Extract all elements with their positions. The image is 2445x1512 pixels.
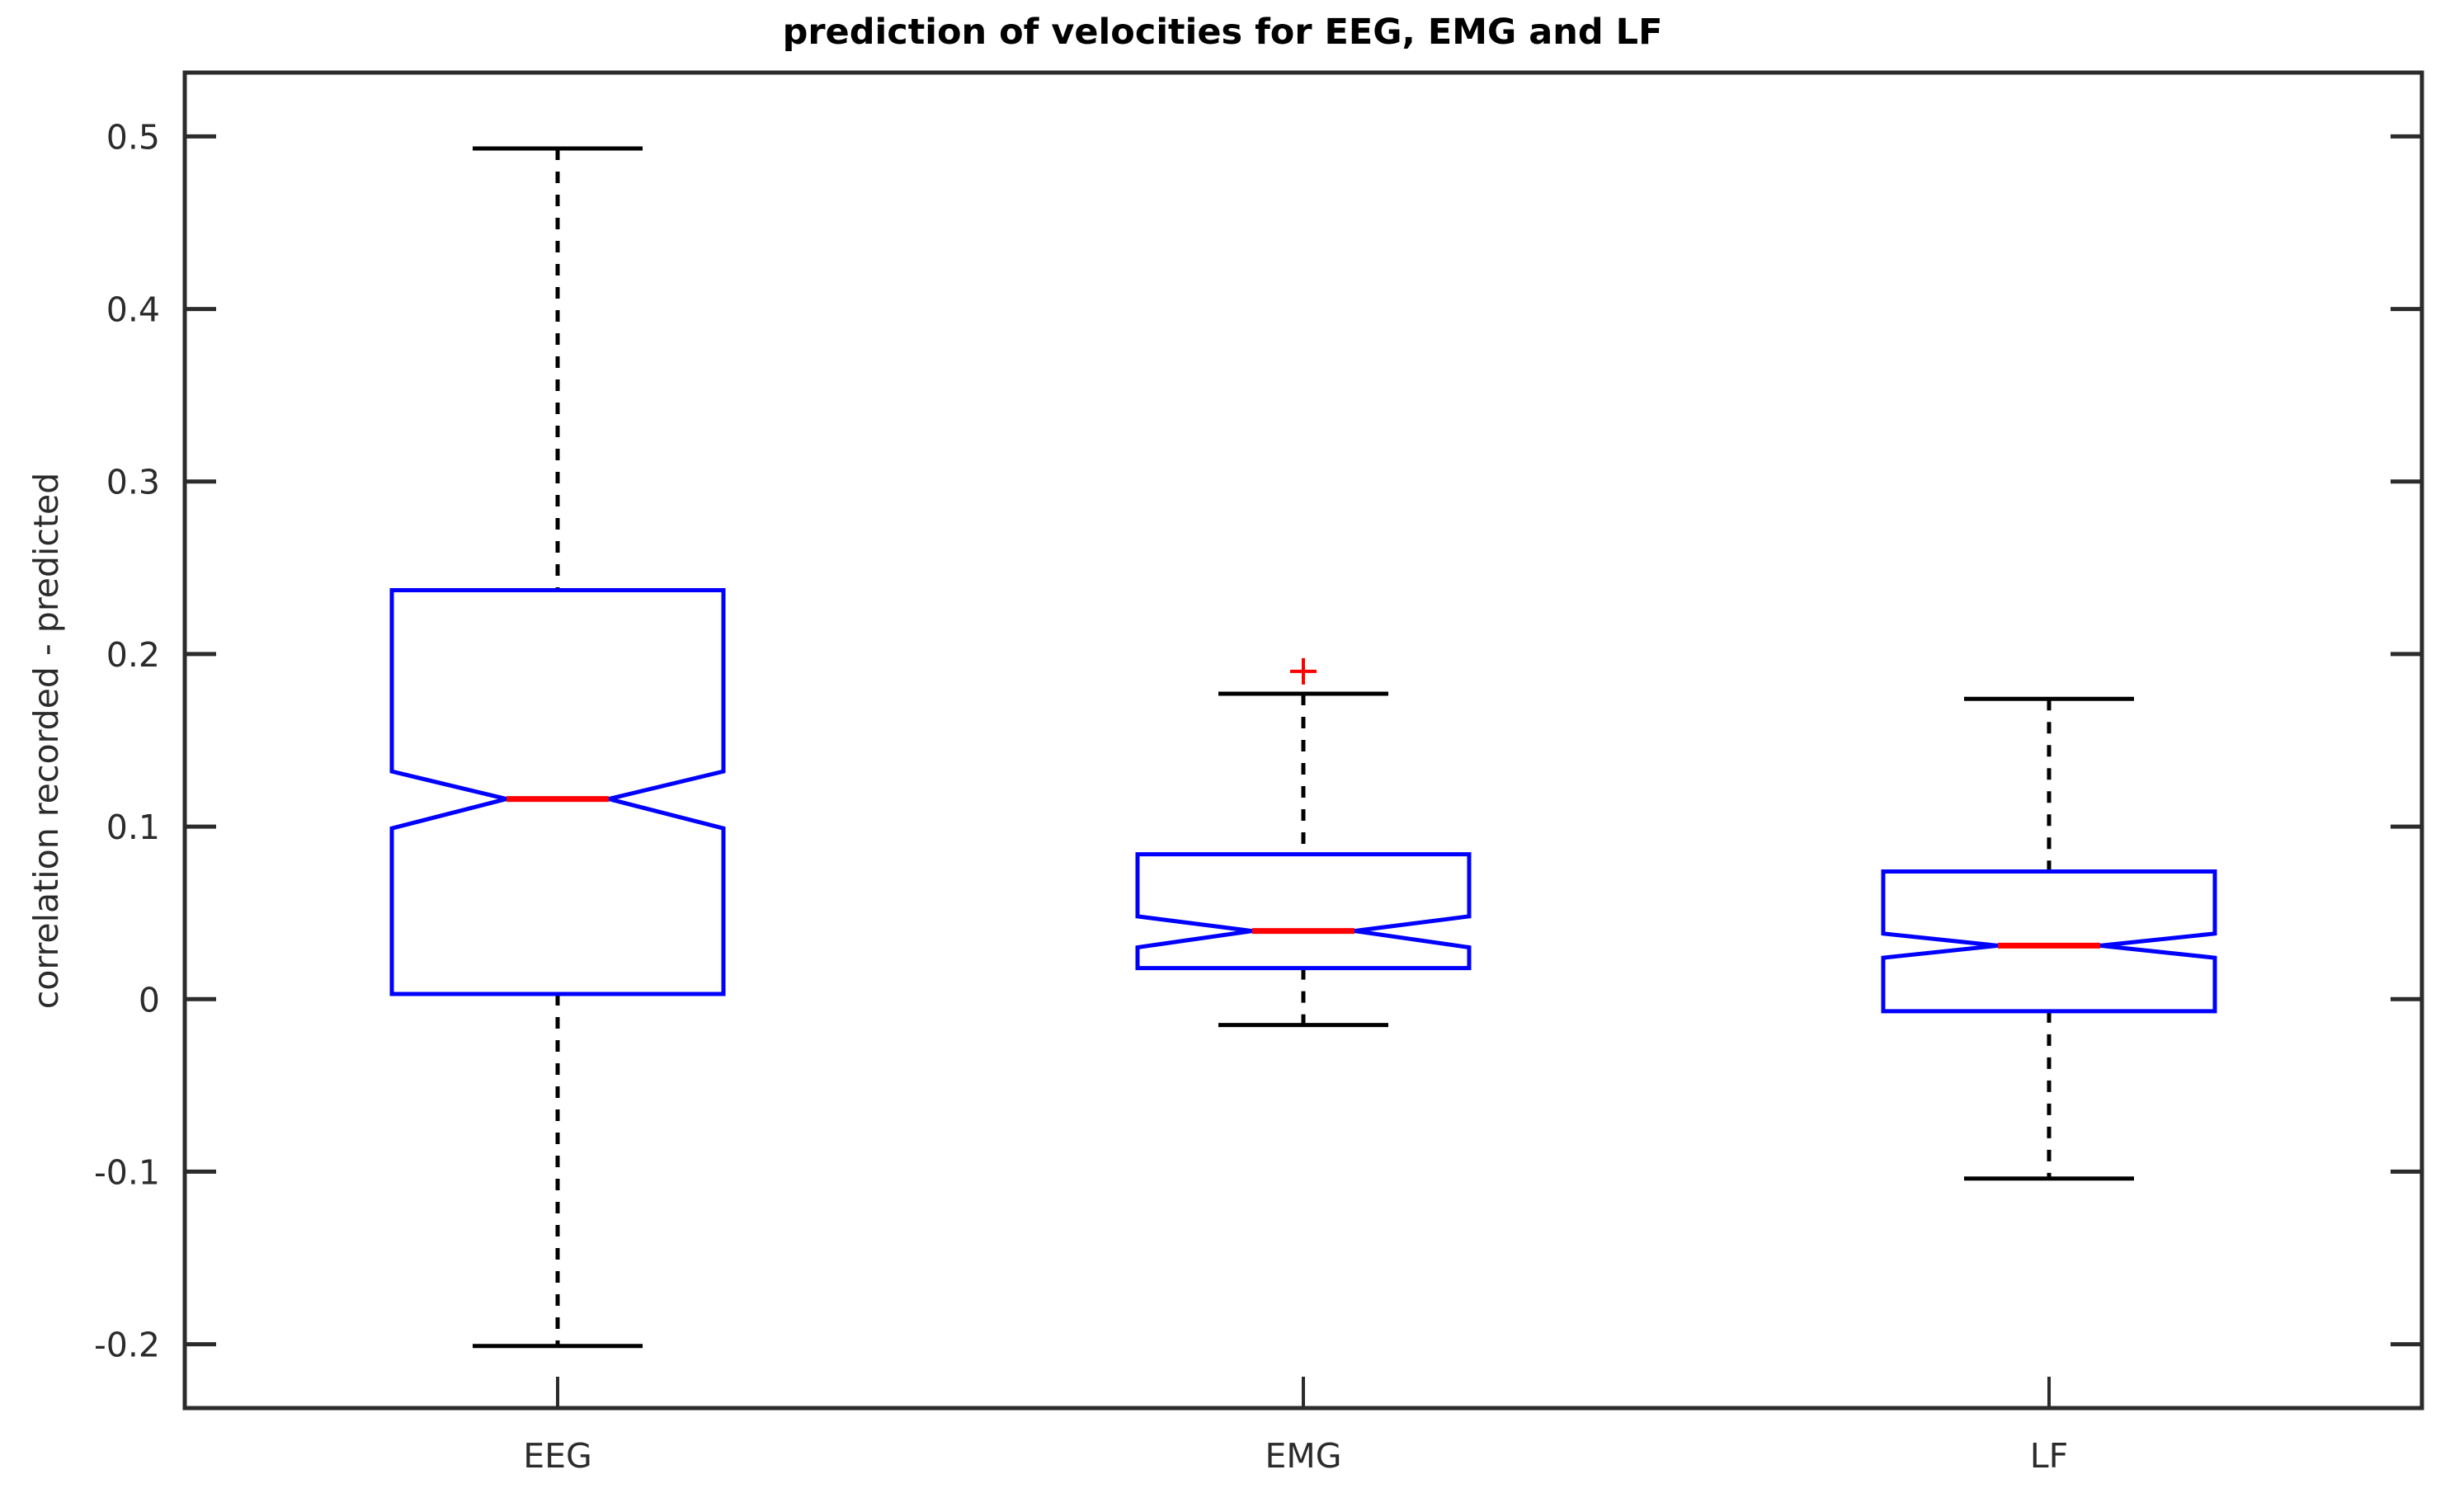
y-tick-label: -0.1 [94,1152,160,1192]
x-tick-label-eeg: EEG [523,1436,592,1476]
y-tick-label: -0.2 [94,1326,160,1365]
x-tick-label-lf: LF [2030,1436,2068,1476]
y-axis-tick-labels: 0.50.40.30.20.10-0.1-0.2 [94,117,160,1364]
x-axis-ticks [558,1377,2049,1408]
box-outline [1138,855,1469,968]
box-emg [1138,658,1469,1025]
box-lf [1883,699,2215,1179]
y-tick-label: 0.3 [106,463,160,502]
y-tick-label: 0.1 [106,808,160,847]
y-tick-label: 0.2 [106,635,160,675]
y-tick-label: 0 [139,980,160,1020]
x-tick-label-emg: EMG [1265,1436,1341,1476]
x-axis-tick-labels: EEGEMGLF [523,1436,2068,1476]
y-axis-label: correlation recorded - predicted [26,473,66,1010]
box-outline [1883,872,2215,1011]
y-tick-label: 0.5 [106,117,160,157]
box-outline [392,591,723,995]
y-tick-label: 0.4 [106,290,160,330]
box-plot-series [392,148,2215,1346]
box-eeg [392,148,723,1346]
boxplot-canvas: 0.50.40.30.20.10-0.1-0.2 EEGEMGLF correl… [0,0,2445,1512]
figure-container: prediction of velocities for EEG, EMG an… [0,0,2445,1512]
